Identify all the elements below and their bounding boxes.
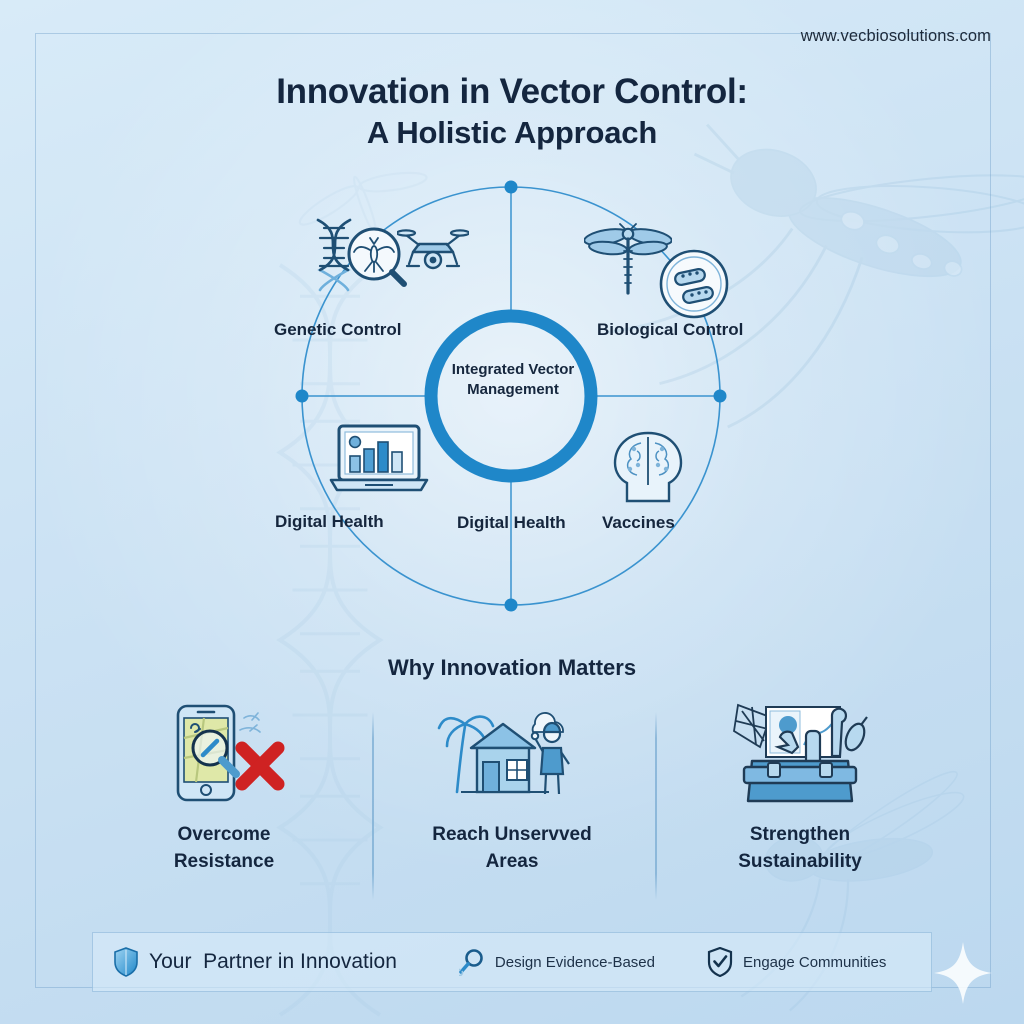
footer-bar: Your Partner in Innovation Design Eviden… [92, 932, 932, 992]
why-item-strengthen-sustainability: Strengthen Sustainability [656, 700, 944, 905]
shield-icon [111, 947, 141, 977]
wheel-center-label: Integrated Vector Management [427, 360, 599, 401]
why-innovation-row: Overcome Resistance [80, 700, 944, 905]
wheel-label-vaccines: Vaccines [602, 513, 675, 533]
node-dot-west [296, 390, 309, 403]
why-item-label: Reach Unservved Areas [432, 822, 591, 875]
why-item-label: Strengthen Sustainability [738, 822, 862, 875]
shield-check-icon [705, 947, 735, 977]
footer-item-partner[interactable]: Your Partner in Innovation [111, 947, 397, 977]
phone-map-magnifier-x-icon [160, 700, 288, 808]
site-url: www.vecbiosolutions.com [801, 27, 991, 46]
wheel-label-biological-control: Biological Control [597, 320, 743, 340]
node-dot-east [714, 390, 727, 403]
footer-label: Engage Communities [743, 954, 886, 971]
why-innovation-heading: Why Innovation Matters [0, 655, 1024, 681]
sparkle-decoration [932, 940, 994, 1011]
toolbox-icon [730, 700, 870, 808]
title-line-2: A Holistic Approach [0, 113, 1024, 153]
why-divider-2 [655, 712, 657, 900]
why-item-label: Overcome Resistance [174, 822, 274, 875]
title-line-1: Innovation in Vector Control: [0, 72, 1024, 113]
node-dot-north [505, 181, 518, 194]
why-item-reach-unserved-areas: Reach Unservved Areas [368, 700, 656, 905]
wheel-label-genetic-control: Genetic Control [274, 320, 402, 340]
page-title: Innovation in Vector Control: A Holistic… [0, 72, 1024, 153]
node-dot-south [505, 599, 518, 612]
search-icon [457, 948, 487, 976]
why-divider-1 [372, 712, 374, 900]
footer-item-engage-communities[interactable]: Engage Communities [705, 947, 886, 977]
footer-label: Your Partner in Innovation [149, 950, 397, 974]
house-palm-worker-icon [437, 700, 587, 808]
why-item-overcome-resistance: Overcome Resistance [80, 700, 368, 905]
vector-control-wheel: Genetic Control Biological Control Digit… [272, 172, 750, 620]
wheel-label-digital-health-center: Digital Health [457, 513, 566, 533]
footer-item-evidence-based[interactable]: Design Evidence-Based [457, 948, 655, 976]
wheel-label-digital-health-left: Digital Health [275, 512, 384, 532]
footer-label: Design Evidence-Based [495, 954, 655, 971]
